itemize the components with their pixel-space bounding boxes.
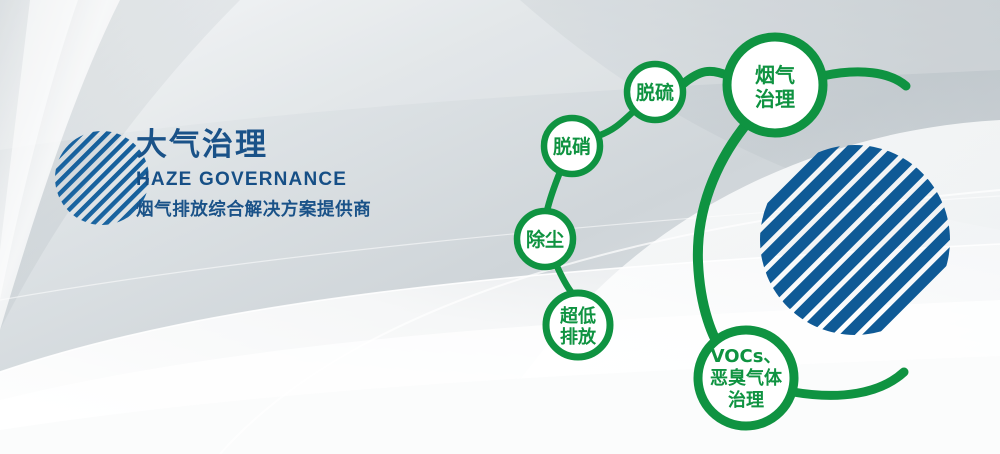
haze-governance-banner: 大气治理 HAZE GOVERNANCE 烟气排放综合解决方案提供商 bbox=[0, 0, 1000, 454]
node-vocs-odor-label-line-2: 恶臭气体 bbox=[710, 367, 783, 389]
edge-denitr-dust bbox=[547, 172, 560, 211]
node-ultralow-emission-label-line-1: 超低 bbox=[560, 305, 596, 327]
node-ultralow-emission[interactable]: 超低 排放 bbox=[546, 293, 610, 357]
edge-dust-ultralow bbox=[556, 264, 572, 293]
node-hub-label-line-2: 治理 bbox=[755, 87, 795, 111]
node-denitrification[interactable]: 脱硝 bbox=[544, 118, 600, 174]
node-denitrification-label: 脱硝 bbox=[553, 135, 591, 158]
node-ultralow-emission-label-line-2: 排放 bbox=[560, 326, 597, 348]
node-dust-removal[interactable]: 除尘 bbox=[517, 211, 573, 267]
node-dust-removal-label: 除尘 bbox=[526, 228, 564, 251]
node-hub[interactable]: 烟气 治理 bbox=[727, 37, 823, 133]
node-hub-label-line-1: 烟气 bbox=[755, 63, 795, 87]
node-vocs-odor-label-line-3: 治理 bbox=[728, 389, 764, 411]
edge-vocs-right-tail bbox=[793, 372, 904, 395]
node-desulfurization[interactable]: 脱硫 bbox=[627, 64, 683, 120]
node-network-diagram: 烟气 治理 脱硫 脱硝 除尘 超低 排放 VOC bbox=[0, 0, 1000, 454]
edge-desulf-denitr bbox=[598, 110, 635, 136]
node-desulfurization-label: 脱硫 bbox=[636, 81, 674, 104]
edge-hub-vocs-arc bbox=[698, 127, 744, 350]
node-vocs-odor-label-line-1: VOCs、 bbox=[711, 346, 782, 367]
edge-hub-desulf bbox=[683, 71, 729, 84]
edge-hub-right-tail bbox=[822, 72, 906, 86]
node-vocs-odor[interactable]: VOCs、 恶臭气体 治理 bbox=[698, 330, 794, 426]
